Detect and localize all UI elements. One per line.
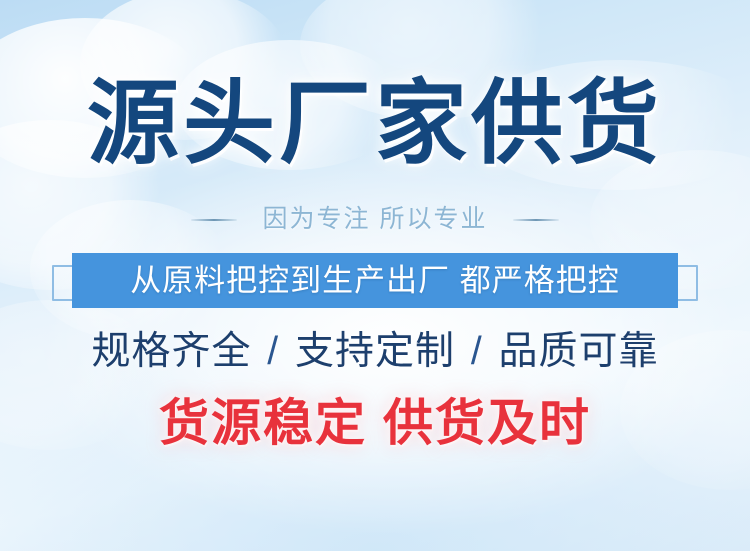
highlight-bar: 从原料把控到生产出厂 都严格把控 [72,253,678,308]
feature-item-1: 规格齐全 [91,330,251,373]
headline-text: 源头厂家供货 [0,78,750,170]
feature-list: 规格齐全 / 支持定制 / 品质可靠 [0,332,750,371]
subtitle-row: 因为专注 所以专业 [0,207,750,232]
divider-rule-left [191,219,237,221]
highlight-bar-group: 从原料把控到生产出厂 都严格把控 [0,253,750,323]
emphasis-text: 货源稳定 供货及时 [0,398,750,448]
feature-separator-1: / [263,330,283,373]
feature-item-2: 支持定制 [295,330,455,373]
divider-rule-right [513,219,559,221]
subtitle-text: 因为专注 所以专业 [263,207,488,232]
promo-banner: 源头厂家供货 因为专注 所以专业 从原料把控到生产出厂 都严格把控 规格齐全 /… [0,0,750,551]
feature-item-3: 品质可靠 [499,330,659,373]
feature-separator-2: / [467,330,487,373]
banner-content: 源头厂家供货 因为专注 所以专业 从原料把控到生产出厂 都严格把控 规格齐全 /… [0,0,750,551]
highlight-bar-text: 从原料把控到生产出厂 都严格把控 [130,265,620,296]
